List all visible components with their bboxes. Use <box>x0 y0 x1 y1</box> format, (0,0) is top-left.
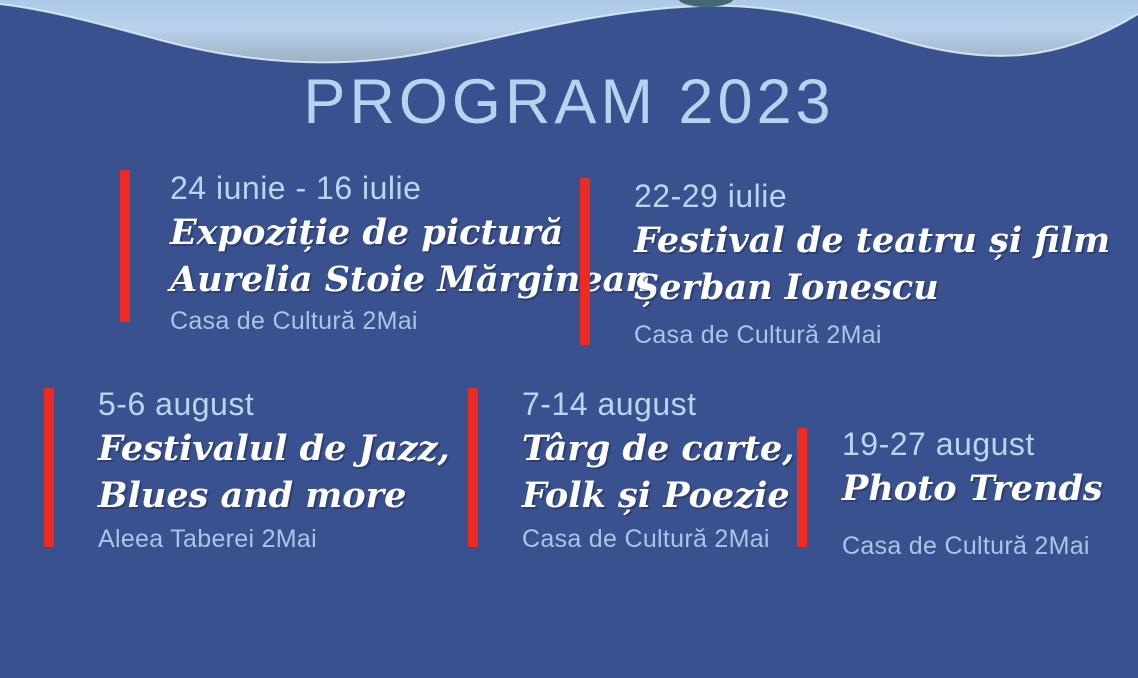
event-title-line2: Aurelia Stoie Mărginean <box>170 259 651 300</box>
event-card-2: 22-29 iulie Festival de teatru și film Ș… <box>580 178 1110 350</box>
event-venue: Aleea Taberei 2Mai <box>98 526 450 554</box>
event-venue: Casa de Cultură 2Mai <box>522 526 794 554</box>
top-wave-decoration <box>0 0 1138 72</box>
event-title-line1: Festival de teatru și film <box>634 220 1110 261</box>
event-body: 22-29 iulie Festival de teatru și film Ș… <box>580 180 1110 350</box>
event-body: 5-6 august Festivalul de Jazz, Blues and… <box>44 388 450 554</box>
event-date: 7-14 august <box>522 388 794 422</box>
program-poster: PROGRAM 2023 24 iunie - 16 iulie Expoziț… <box>0 0 1138 678</box>
event-accent-bar <box>120 170 130 322</box>
event-title-line1: Photo Trends <box>842 468 1103 509</box>
event-title-line1: Târg de carte, <box>522 428 794 469</box>
page-title: PROGRAM 2023 <box>0 68 1138 137</box>
event-title-line1: Expoziție de pictură <box>170 212 651 253</box>
event-card-3: 5-6 august Festivalul de Jazz, Blues and… <box>44 388 450 554</box>
event-body: 19-27 august Photo Trends Casa de Cultur… <box>797 428 1103 560</box>
event-title-line2: Șerban Ionescu <box>634 267 1110 308</box>
event-accent-bar <box>580 178 590 345</box>
wave-outline <box>0 4 1138 62</box>
event-card-5: 19-27 august Photo Trends Casa de Cultur… <box>797 428 1103 560</box>
event-body: 7-14 august Târg de carte, Folk și Poezi… <box>468 388 794 554</box>
event-accent-bar <box>468 388 478 547</box>
event-venue: Casa de Cultură 2Mai <box>170 308 651 336</box>
event-date: 24 iunie - 16 iulie <box>170 172 651 206</box>
event-accent-bar <box>797 428 807 547</box>
event-title-line1: Festivalul de Jazz, <box>98 428 450 469</box>
event-date: 5-6 august <box>98 388 450 422</box>
event-venue: Casa de Cultură 2Mai <box>842 533 1103 561</box>
wave-light-fill <box>0 0 1138 62</box>
event-date: 22-29 iulie <box>634 180 1110 214</box>
event-accent-bar <box>44 388 54 547</box>
event-venue: Casa de Cultură 2Mai <box>634 322 1110 350</box>
event-title-line2: Folk și Poezie <box>522 475 794 516</box>
event-card-4: 7-14 august Târg de carte, Folk și Poezi… <box>468 388 794 554</box>
wave-teal-blob <box>678 0 734 7</box>
event-card-1: 24 iunie - 16 iulie Expoziție de pictură… <box>120 170 651 336</box>
event-body: 24 iunie - 16 iulie Expoziție de pictură… <box>120 172 651 336</box>
event-date: 19-27 august <box>842 428 1103 462</box>
event-title-line2: Blues and more <box>98 475 450 516</box>
